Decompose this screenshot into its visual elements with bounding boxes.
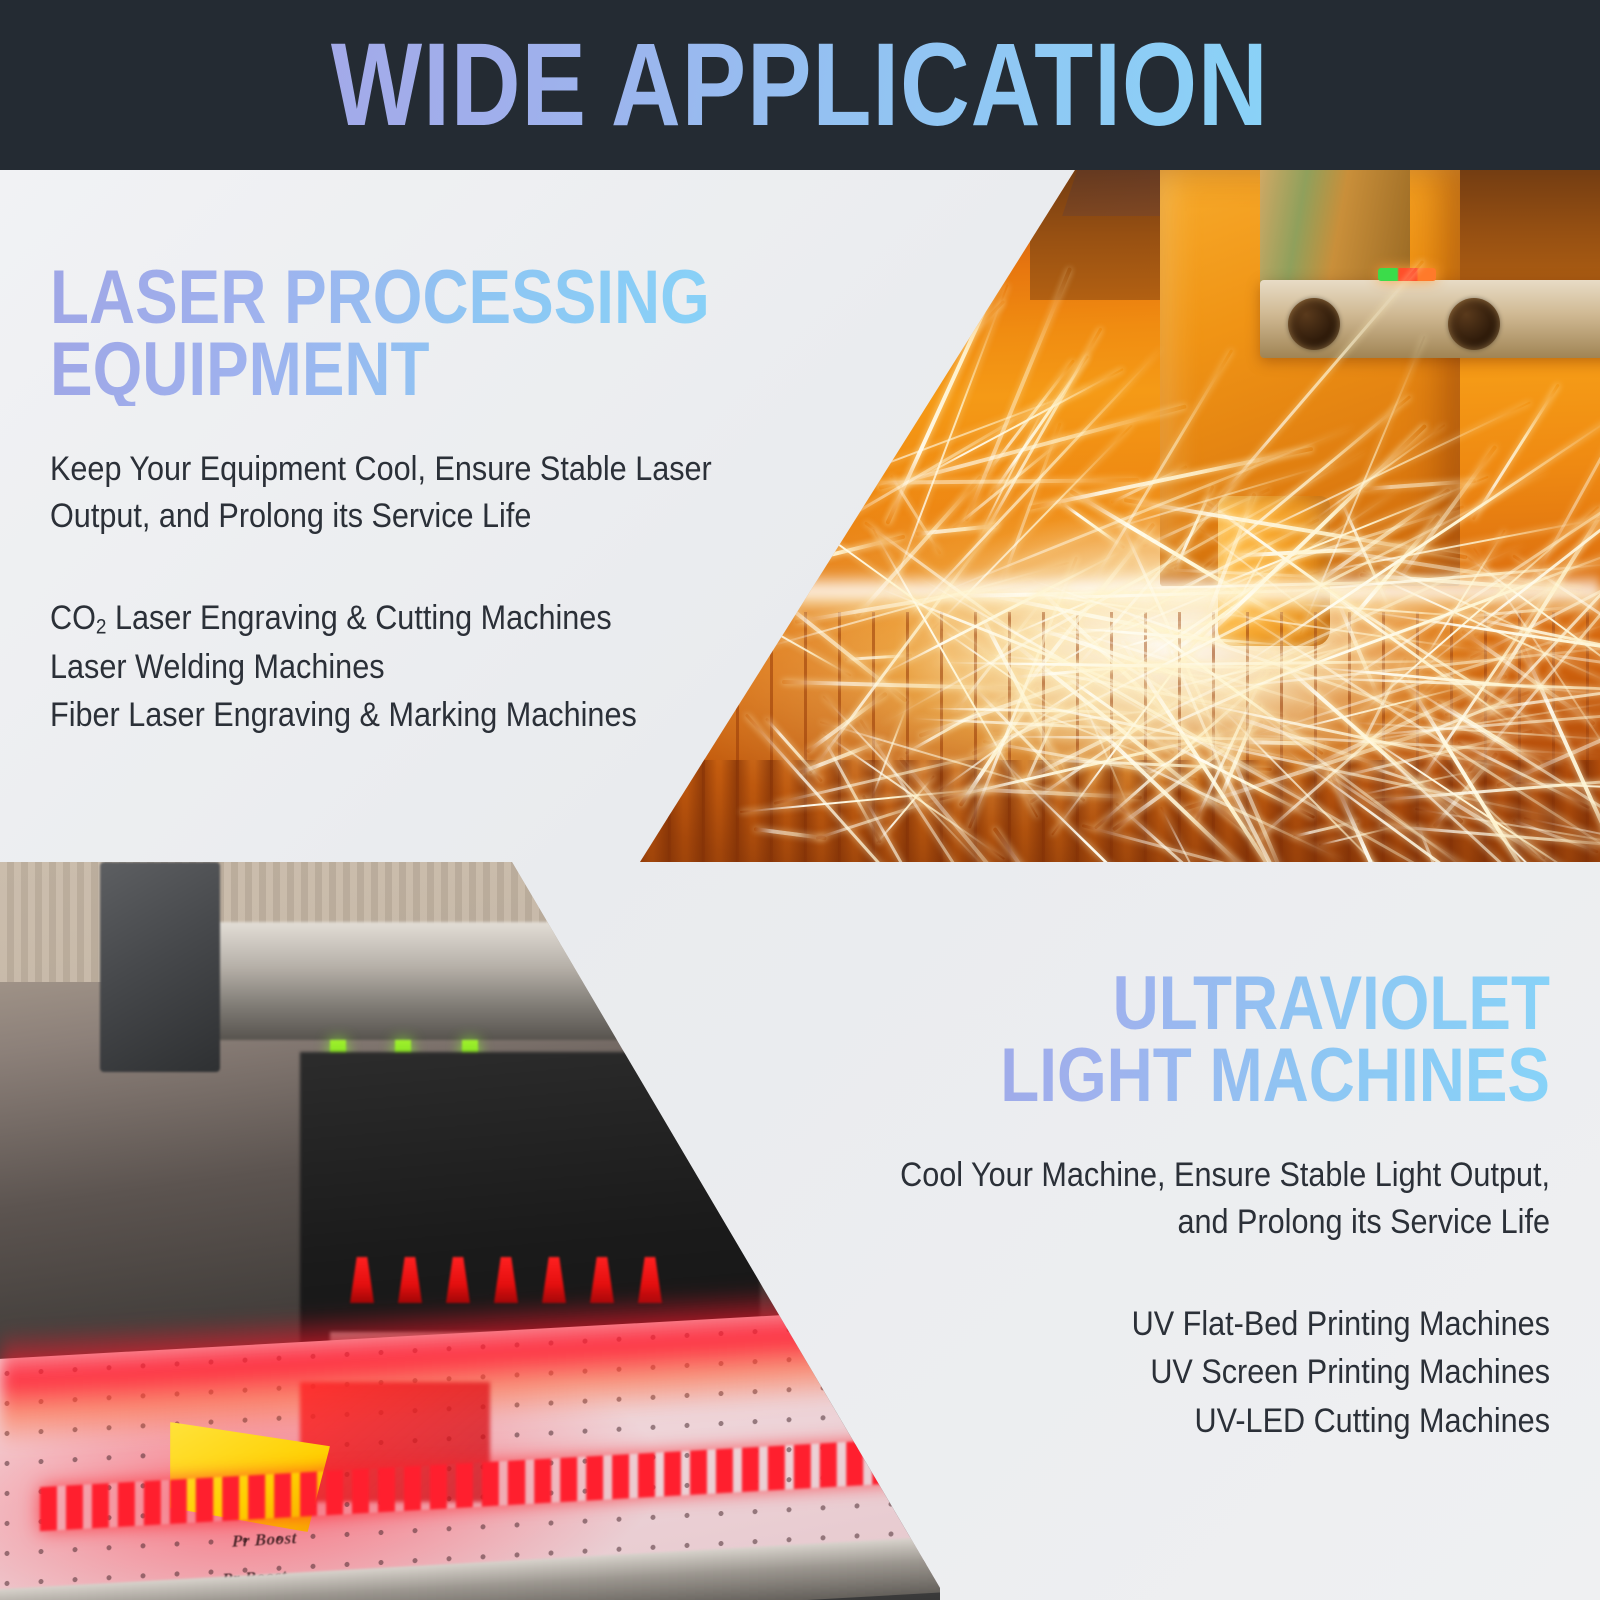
uv-carriage — [100, 862, 220, 1072]
machine-name-prefix: UV Screen Printing Machines — [1150, 1353, 1550, 1391]
section-title-laser: LASER PROCESSING EQUIPMENT — [50, 262, 739, 406]
page-title: WIDE APPLICATION — [331, 26, 1269, 144]
machine-list-laser: CO2 Laser Engraving & Cutting Machines L… — [50, 594, 788, 739]
list-item: Laser Welding Machines — [50, 643, 788, 691]
uv-nozzle — [446, 1257, 470, 1303]
header-bar: WIDE APPLICATION — [0, 0, 1600, 170]
section-title-uv: ULTRAVIOLET LIGHT MACHINES — [928, 968, 1550, 1112]
spark — [740, 787, 994, 813]
section-tagline-uv: Cool Your Machine, Ensure Stable Light O… — [884, 1152, 1550, 1246]
list-item: UV Screen Printing Machines — [884, 1348, 1550, 1396]
machine-name-prefix: Laser Welding Machines — [50, 648, 385, 686]
machine-name-prefix: UV-LED Cutting Machines — [1195, 1402, 1550, 1440]
machine-name-prefix: CO — [50, 599, 96, 637]
uv-nozzle — [494, 1257, 518, 1303]
machine-list-uv: UV Flat-Bed Printing Machines UV Screen … — [884, 1300, 1550, 1445]
list-item: CO2 Laser Engraving & Cutting Machines — [50, 594, 788, 643]
spark — [1472, 383, 1560, 520]
spark — [1252, 677, 1443, 845]
laser-processing-equipment-panel: LASER PROCESSING EQUIPMENT Keep Your Equ… — [50, 262, 870, 739]
machine-name-prefix: Fiber Laser Engraving & Marking Machines — [50, 696, 637, 734]
ultraviolet-light-machines-panel: ULTRAVIOLET LIGHT MACHINES Cool Your Mac… — [810, 968, 1550, 1445]
section-tagline-laser: Keep Your Equipment Cool, Ensure Stable … — [50, 446, 788, 540]
machine-name-sub: 2 — [96, 616, 107, 639]
machine-name-prefix: UV Flat-Bed Printing Machines — [1132, 1305, 1550, 1343]
list-item: Fiber Laser Engraving & Marking Machines — [50, 691, 788, 739]
uv-nozzle — [398, 1257, 422, 1303]
list-item: UV-LED Cutting Machines — [884, 1397, 1550, 1445]
spark — [1216, 259, 1424, 501]
machine-name-suffix: Laser Engraving & Cutting Machines — [106, 599, 611, 637]
uv-bed-brand-text: Pr Boost — [232, 1528, 297, 1552]
list-item: UV Flat-Bed Printing Machines — [884, 1300, 1550, 1348]
uv-nozzle — [350, 1257, 374, 1303]
poster-canvas: WIDE APPLICATION — [0, 0, 1600, 1600]
uv-nozzle — [542, 1257, 566, 1303]
spark — [965, 267, 1073, 522]
uv-printer-photo: Pr Boost Pr Boost Pr Boost — [0, 862, 940, 1600]
